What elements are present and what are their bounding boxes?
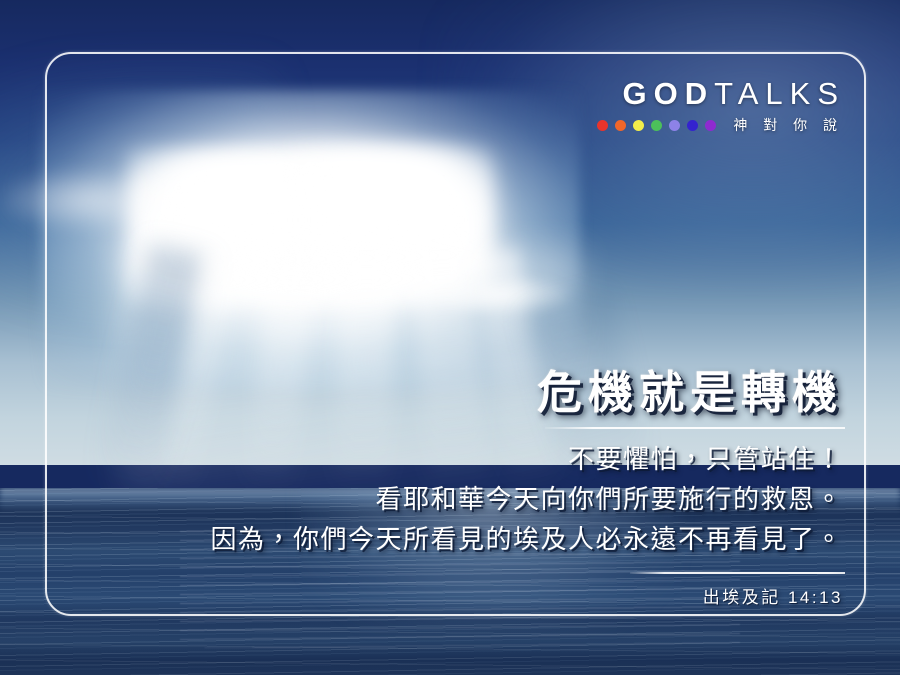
dot-yellow-icon <box>633 120 644 131</box>
cloud-haze-left <box>0 60 280 320</box>
dot-blue-icon <box>687 120 698 131</box>
ocean-foreground-shade <box>0 605 900 675</box>
dot-purple-icon <box>705 120 716 131</box>
dot-red-icon <box>597 120 608 131</box>
headline-divider <box>545 427 845 429</box>
logo-chinese-tagline: 神 對 你 說 <box>733 118 845 132</box>
logo-subline: 神 對 你 說 <box>597 118 845 132</box>
logo-word-god: GOD <box>622 76 714 111</box>
logo-word-talks: TALKS <box>714 76 845 111</box>
headline-text: 危機就是轉機 <box>145 368 845 418</box>
dot-orange-icon <box>615 120 626 131</box>
verse-line-1: 不要懼怕，只管站住！ <box>145 440 845 480</box>
dot-green-icon <box>651 120 662 131</box>
cloud-haze-right <box>440 0 900 290</box>
logo-color-dots <box>597 120 716 131</box>
verse-line-3: 因為，你們今天所看見的埃及人必永遠不再看見了。 <box>145 520 845 560</box>
dot-periwinkle-icon <box>669 120 680 131</box>
verse-text: 不要懼怕，只管站住！ 看耶和華今天向你們所要施行的救恩。 因為，你們今天所看見的… <box>145 440 845 559</box>
godtalks-logo: GODTALKS 神 對 你 說 <box>597 78 845 132</box>
message-block: 危機就是轉機 不要懼怕，只管站住！ 看耶和華今天向你們所要施行的救恩。 因為，你… <box>145 368 845 608</box>
verse-line-2: 看耶和華今天向你們所要施行的救恩。 <box>145 480 845 520</box>
scripture-card: GODTALKS 神 對 你 說 危機就是轉機 不要懼怕，只管站住！ 看耶和華今… <box>0 0 900 675</box>
citation-divider <box>630 572 845 574</box>
scripture-citation: 出埃及記 14:13 <box>145 583 845 608</box>
logo-wordmark: GODTALKS <box>597 78 845 109</box>
